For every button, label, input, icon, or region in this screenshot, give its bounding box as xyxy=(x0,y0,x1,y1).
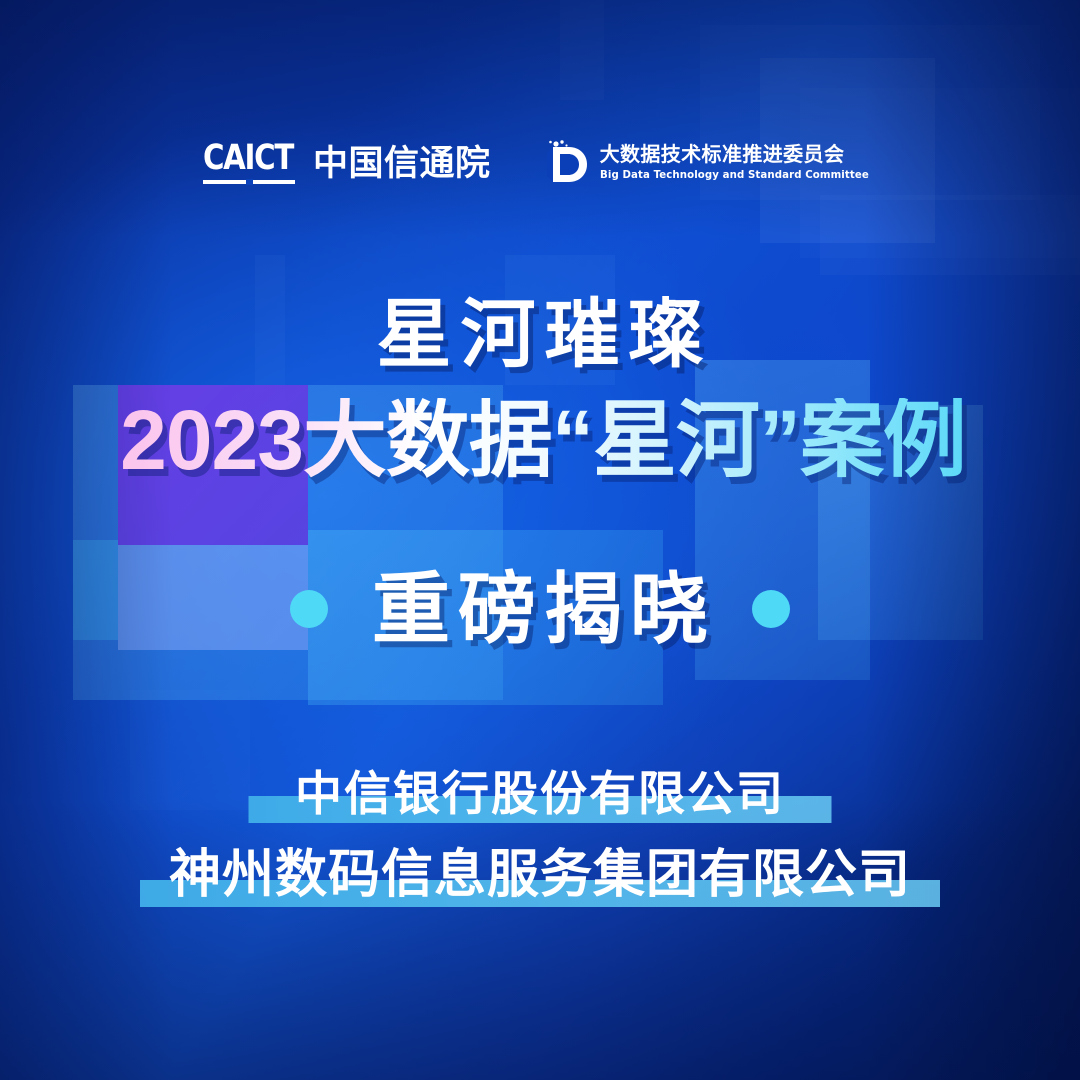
caict-chinese-name: 中国信通院 xyxy=(313,146,491,181)
bullet-dot-left-icon xyxy=(290,590,328,628)
winners-list: 中信银行股份有限公司 神州数码信息服务集团有限公司 xyxy=(0,770,1080,901)
main-title-line-3: 重磅揭晓 xyxy=(364,570,716,648)
winner-name: 中信银行股份有限公司 xyxy=(295,770,785,817)
header-logo-row: CAICT 中国信通院 大数据技术标准推进委员会 Big Data T xyxy=(0,139,1080,187)
caict-underline-icon xyxy=(203,180,295,184)
committee-english-name: Big Data Technology and Standard Committ… xyxy=(600,170,869,181)
big-data-committee-text: 大数据技术标准推进委员会 Big Data Technology and Sta… xyxy=(600,145,877,181)
winner-item: 神州数码信息服务集团有限公司 xyxy=(0,849,1080,901)
winner-name: 神州数码信息服务集团有限公司 xyxy=(169,849,911,901)
poster-canvas: CAICT 中国信通院 大数据技术标准推进委员会 Big Data T xyxy=(0,0,1080,1080)
big-data-committee-logo: 大数据技术标准推进委员会 Big Data Technology and Sta… xyxy=(545,139,877,187)
main-title-line-1: 星河璀璨 xyxy=(0,297,1080,372)
main-title-line-2: 2023大数据“星河”案例 xyxy=(0,398,1080,482)
winner-item: 中信银行股份有限公司 xyxy=(0,770,1080,817)
main-title-line-3-row: 重磅揭晓 xyxy=(0,570,1080,648)
caict-wordmark: CAICT xyxy=(203,141,300,185)
bullet-dot-right-icon xyxy=(752,590,790,628)
caict-logo: CAICT 中国信通院 xyxy=(203,141,490,185)
stylized-d-icon xyxy=(545,139,589,187)
caict-acronym: CAICT xyxy=(203,141,293,176)
committee-chinese-name: 大数据技术标准推进委员会 xyxy=(600,145,877,165)
